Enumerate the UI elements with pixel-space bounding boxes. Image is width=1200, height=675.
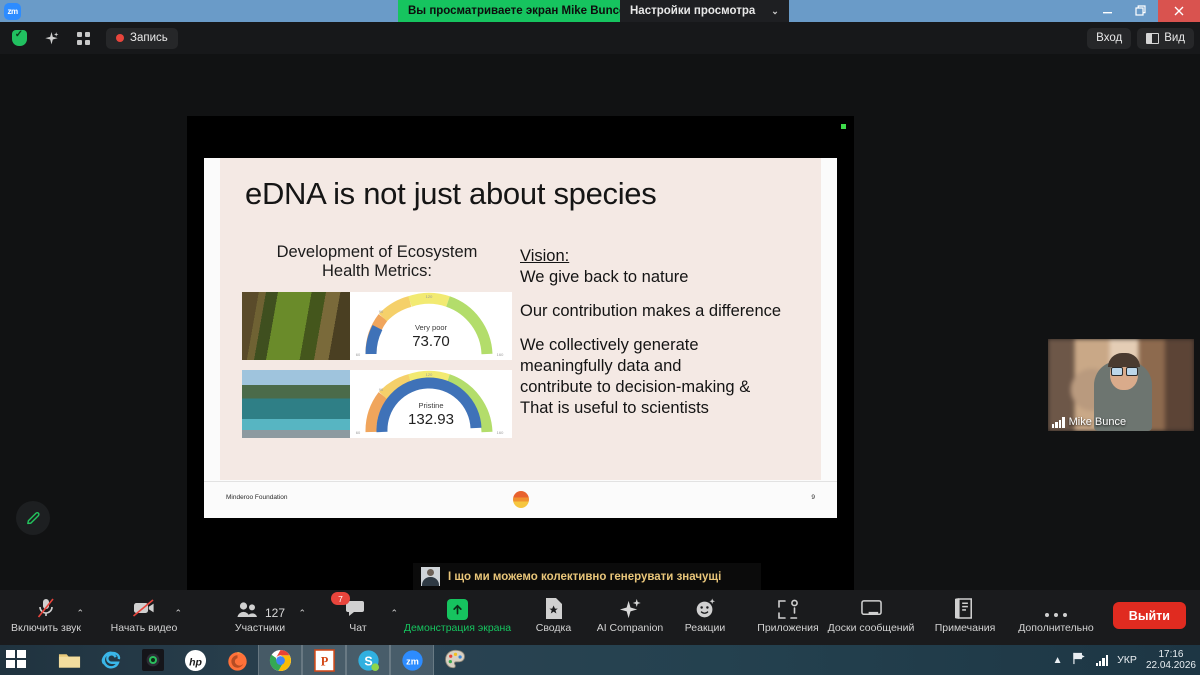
toolbar-label-ai-companion: AI Companion xyxy=(597,622,664,634)
people-icon: 127 xyxy=(235,594,285,620)
audio-options-caret-icon[interactable]: ⌃ xyxy=(76,608,84,619)
skype-icon[interactable]: S xyxy=(346,645,390,675)
whiteboard-icon xyxy=(860,594,883,620)
share-active-dot-icon xyxy=(841,124,846,129)
participant-video-thumbnail[interactable]: Mike Bunce xyxy=(1048,339,1194,431)
participant-name-badge: Mike Bunce xyxy=(1052,416,1126,428)
meeting-top-toolbar: Запись xyxy=(0,22,1200,54)
reactions-icon xyxy=(694,594,717,620)
chrome-icon[interactable] xyxy=(258,645,302,675)
toolbar-label-reactions: Реакции xyxy=(685,622,726,634)
signal-bars-icon xyxy=(1052,417,1065,428)
svg-text:120: 120 xyxy=(426,372,433,377)
zoom-icon[interactable]: zm xyxy=(390,645,434,675)
vision-line: We give back to nature xyxy=(520,267,810,288)
metrics-heading-line1: Development of Ecosystem xyxy=(242,243,512,262)
hp-icon[interactable]: hp xyxy=(174,645,216,675)
slide-footer-organization: Minderoo Foundation xyxy=(226,494,287,501)
algae-river-photo xyxy=(242,292,350,360)
screen-share-banner: Вы просматриваете экран Mike Bunce xyxy=(398,0,635,22)
svg-text:160: 160 xyxy=(497,352,504,357)
caption-text: І що ми можемо колективно генерувати зна… xyxy=(448,571,721,583)
grid-icon[interactable] xyxy=(70,27,96,49)
tray-expand-icon[interactable]: ▲ xyxy=(1053,655,1063,666)
generate-line-2: meaningfully data and xyxy=(520,356,810,377)
video-off-icon xyxy=(131,594,157,620)
gauge-chart: 60 90 120 160 Very poor 73.70 xyxy=(350,292,512,360)
layout-view-icon xyxy=(1146,33,1159,44)
chevron-down-icon: ⌄ xyxy=(771,6,779,17)
maximize-restore-button[interactable] xyxy=(1124,0,1158,22)
toolbar-label-participants: Участники xyxy=(235,622,285,634)
svg-text:S: S xyxy=(364,654,372,668)
gauge-status-label: Pristine xyxy=(350,401,512,410)
metrics-heading: Development of Ecosystem Health Metrics: xyxy=(242,243,512,282)
toolbar-label-apps: Приложения xyxy=(757,622,818,634)
share-screen-icon xyxy=(447,594,468,620)
shared-screen-area[interactable]: eDNA is not just about species Developme… xyxy=(187,116,854,598)
toolbar-item-share-screen[interactable]: Демонстрация экрана xyxy=(400,594,515,634)
toolbar-label-summary: Сводка xyxy=(536,622,571,634)
presentation-slide: eDNA is not just about species Developme… xyxy=(204,158,837,518)
slide-left-column: Development of Ecosystem Health Metrics: xyxy=(242,243,512,438)
svg-text:90: 90 xyxy=(379,309,384,314)
internet-explorer-icon[interactable] xyxy=(90,645,132,675)
svg-text:90: 90 xyxy=(379,387,384,392)
participant-count: 127 xyxy=(265,606,285,620)
meeting-bottom-toolbar: Включить звук ⌃ Начать видео ⌃ 127 xyxy=(0,590,1200,645)
slide-content: eDNA is not just about species Developme… xyxy=(220,158,821,480)
zoom-logo-icon: zm xyxy=(4,3,21,20)
leave-meeting-button[interactable]: Выйти xyxy=(1113,602,1186,629)
top-right-controls: Вход Вид xyxy=(1087,22,1194,54)
toolbar-item-audio[interactable]: Включить звук ⌃ xyxy=(0,594,92,634)
paint-icon[interactable] xyxy=(434,645,476,675)
gauge-status-label: Very poor xyxy=(350,323,512,332)
toolbar-label-more: Дополнительно xyxy=(1018,622,1094,634)
network-flag-icon[interactable] xyxy=(1072,652,1087,668)
svg-text:P: P xyxy=(320,654,328,668)
record-dot-icon xyxy=(116,34,124,42)
live-caption-bar: І що ми можемо колективно генерувати зна… xyxy=(413,563,761,590)
toolbar-item-video[interactable]: Начать видео ⌃ xyxy=(98,594,190,634)
recording-label: Запись xyxy=(130,32,168,44)
svg-text:60: 60 xyxy=(356,430,361,435)
slide-right-column: Vision: We give back to nature Our contr… xyxy=(520,246,810,419)
toolbar-label-chat: Чат xyxy=(349,622,366,634)
mic-muted-icon xyxy=(34,594,58,620)
notes-icon xyxy=(955,594,976,620)
security-shield-icon[interactable] xyxy=(6,27,32,49)
toolbar-item-notes[interactable]: Примечания xyxy=(920,594,1010,634)
toolbar-item-whiteboards[interactable]: Доски сообщений xyxy=(822,594,920,634)
participant-name: Mike Bunce xyxy=(1069,416,1126,428)
chat-icon: 7 xyxy=(346,594,370,620)
toolbar-label-notes: Примечания xyxy=(935,622,996,634)
wifi-signal-icon[interactable] xyxy=(1096,654,1109,666)
vision-heading: Vision: xyxy=(520,246,810,267)
toolbar-item-participants[interactable]: 127 Участники ⌃ xyxy=(214,594,306,634)
toolbar-label-share-screen: Демонстрация экрана xyxy=(404,622,511,634)
slide-footer: Minderoo Foundation 9 xyxy=(204,481,837,518)
video-options-caret-icon[interactable]: ⌃ xyxy=(174,608,182,619)
generate-line-1: We collectively generate xyxy=(520,335,810,356)
firefox-icon[interactable] xyxy=(216,645,258,675)
window-controls xyxy=(1090,0,1200,22)
powerpoint-icon[interactable]: P xyxy=(302,645,346,675)
toolbar-item-more[interactable]: Дополнительно xyxy=(1008,594,1104,634)
file-explorer-icon[interactable] xyxy=(48,645,90,675)
toolbar-label-whiteboards: Доски сообщений xyxy=(828,622,915,634)
sparkle-icon xyxy=(619,594,642,620)
svg-text:60: 60 xyxy=(356,352,361,357)
metrics-heading-line2: Health Metrics: xyxy=(242,262,512,281)
svg-text:hp: hp xyxy=(189,656,202,668)
generate-line-4: That is useful to scientists xyxy=(520,398,810,419)
metric-card: 60 90 120 160 Very poor 73.70 xyxy=(242,292,512,360)
zoom-meeting-window: zm Вы просматриваете экран Mike Bunce На… xyxy=(0,0,1200,675)
sparkle-icon[interactable] xyxy=(38,27,64,49)
close-button[interactable] xyxy=(1158,0,1200,22)
clock-date: 22.04.2026 xyxy=(1146,660,1196,672)
participants-caret-icon[interactable]: ⌃ xyxy=(298,608,306,619)
language-indicator[interactable]: УКР xyxy=(1117,654,1137,666)
windows-start-icon[interactable] xyxy=(6,650,28,670)
annotate-button[interactable] xyxy=(16,501,50,535)
leave-meeting-label: Выйти xyxy=(1129,609,1170,623)
glasses-icon xyxy=(1111,367,1137,374)
svg-text:160: 160 xyxy=(497,430,504,435)
svg-text:zm: zm xyxy=(406,656,419,666)
windows-taskbar: hp xyxy=(0,645,1200,675)
recording-indicator[interactable]: Запись xyxy=(106,28,178,49)
view-settings-label: Настройки просмотра xyxy=(630,5,755,17)
metric-card: 60 90 120 160 Pristine 132.93 xyxy=(242,370,512,438)
login-button[interactable]: Вход xyxy=(1087,28,1131,49)
generate-block: We collectively generate meaningfully da… xyxy=(520,335,810,419)
login-label: Вход xyxy=(1096,32,1122,44)
toolbar-item-reactions[interactable]: Реакции xyxy=(660,594,750,634)
toolbar-label-video: Начать видео xyxy=(111,622,178,634)
more-dots-icon xyxy=(1043,594,1069,620)
apps-icon xyxy=(777,594,799,620)
system-tray: ▲ УКР 17:16 22.04.2026 xyxy=(1053,645,1196,675)
toolbar-label-audio: Включить звук xyxy=(11,622,81,634)
clock-time: 17:16 xyxy=(1146,649,1196,661)
speaker-avatar xyxy=(421,567,440,586)
summary-icon xyxy=(543,594,565,620)
svg-text:120: 120 xyxy=(426,294,433,299)
view-settings-button[interactable]: Настройки просмотра ⌄ xyxy=(620,0,789,22)
slide-title: eDNA is not just about species xyxy=(245,176,656,212)
minderoo-logo-icon xyxy=(513,491,529,508)
chat-unread-badge: 7 xyxy=(331,592,350,605)
toolbar-item-chat[interactable]: 7 Чат ⌃ xyxy=(312,594,404,634)
slide-page-number: 9 xyxy=(811,494,815,501)
window-title-bar: zm Вы просматриваете экран Mike Bunce На… xyxy=(0,0,1200,22)
view-button[interactable]: Вид xyxy=(1137,28,1194,49)
pristine-river-photo xyxy=(242,370,350,438)
webcam-app-icon[interactable] xyxy=(132,645,174,675)
meeting-stage: eDNA is not just about species Developme… xyxy=(0,54,1200,574)
contribution-line: Our contribution makes a difference xyxy=(520,301,810,322)
view-label: Вид xyxy=(1164,32,1185,44)
screen-share-banner-label: Вы просматриваете экран Mike Bunce xyxy=(408,5,625,17)
minimize-button[interactable] xyxy=(1090,0,1124,22)
clock[interactable]: 17:16 22.04.2026 xyxy=(1146,649,1196,672)
taskbar-app-list: hp xyxy=(48,645,476,675)
gauge-value: 132.93 xyxy=(350,411,512,428)
chat-caret-icon[interactable]: ⌃ xyxy=(390,608,398,619)
gauge-value: 73.70 xyxy=(350,333,512,350)
generate-line-3: contribute to decision-making & xyxy=(520,377,810,398)
gauge-chart: 60 90 120 160 Pristine 132.93 xyxy=(350,370,512,438)
